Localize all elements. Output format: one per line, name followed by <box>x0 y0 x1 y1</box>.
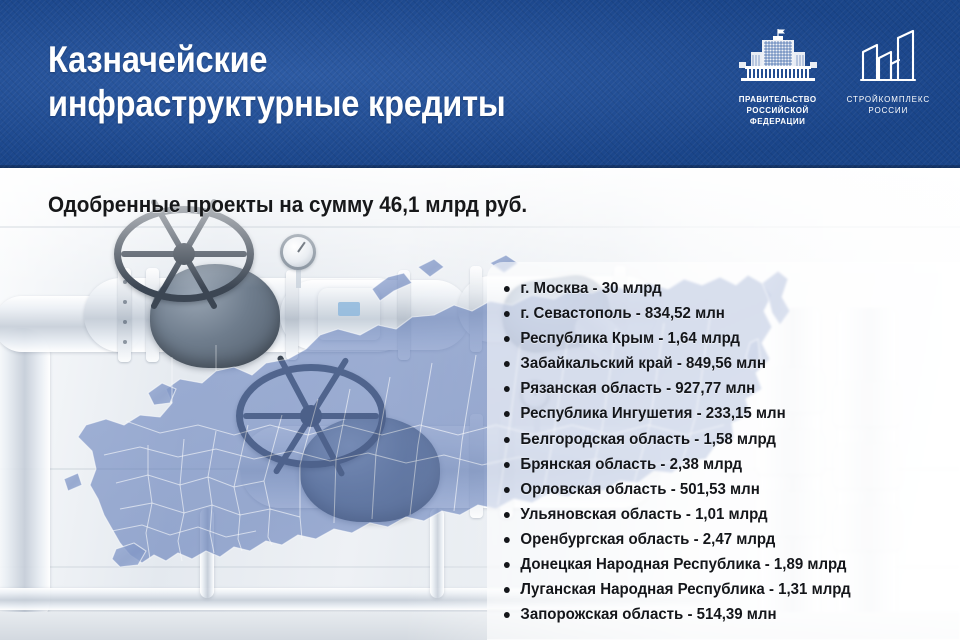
list-item: Запорожская область - 514,39 млн <box>502 602 937 627</box>
stroykompleks-logo-caption: СТРОЙКОМПЛЕКС РОССИИ <box>847 94 930 116</box>
list-item: Орловская область - 501,53 млн <box>502 477 937 502</box>
list-item: Брянская область - 2,38 млрд <box>502 452 937 477</box>
government-logo-caption: ПРАВИТЕЛЬСТВО РОССИЙСКОЙ ФЕДЕРАЦИИ <box>739 94 817 127</box>
list-item: Донецкая Народная Республика - 1,89 млрд <box>502 552 937 577</box>
infographic-poster: Казначейские инфраструктурные кредиты <box>0 0 960 640</box>
page-title: Казначейские инфраструктурные кредиты <box>48 38 506 126</box>
list-item: г. Москва - 30 млрд <box>502 276 937 301</box>
government-of-russia-logo: ПРАВИТЕЛЬСТВО РОССИЙСКОЙ ФЕДЕРАЦИИ <box>737 28 819 127</box>
approved-projects-panel: г. Москва - 30 млрд г. Севастополь - 834… <box>487 262 960 640</box>
header-band: Казначейские инфраструктурные кредиты <box>0 0 960 168</box>
list-item: Луганская Народная Республика - 1,31 млр… <box>502 577 937 602</box>
main-content-area: Одобренные проекты на сумму 46,1 млрд ру… <box>0 168 960 640</box>
list-item: Оренбургская область - 2,47 млрд <box>502 527 937 552</box>
region-list: г. Москва - 30 млрд г. Севастополь - 834… <box>502 276 950 627</box>
subtitle-total: Одобренные проекты на сумму 46,1 млрд ру… <box>48 192 527 218</box>
list-item: Рязанская область - 927,77 млн <box>502 376 937 401</box>
list-item: г. Севастополь - 834,52 млн <box>502 301 937 326</box>
list-item: Республика Ингушетия - 233,15 млн <box>502 401 937 426</box>
logo-group: ПРАВИТЕЛЬСТВО РОССИЙСКОЙ ФЕДЕРАЦИИ <box>737 28 930 127</box>
government-house-building-icon <box>737 28 819 89</box>
list-item: Белгородская область - 1,58 млрд <box>502 427 937 452</box>
list-item: Республика Крым - 1,64 млрд <box>502 326 937 351</box>
list-item: Забайкальский край - 849,56 млн <box>502 351 937 376</box>
list-item: Ульяновская область - 1,01 млрд <box>502 502 937 527</box>
stroykompleks-rossii-logo: СТРОЙКОМПЛЕКС РОССИИ <box>847 28 930 116</box>
buildings-outline-icon <box>853 28 923 89</box>
